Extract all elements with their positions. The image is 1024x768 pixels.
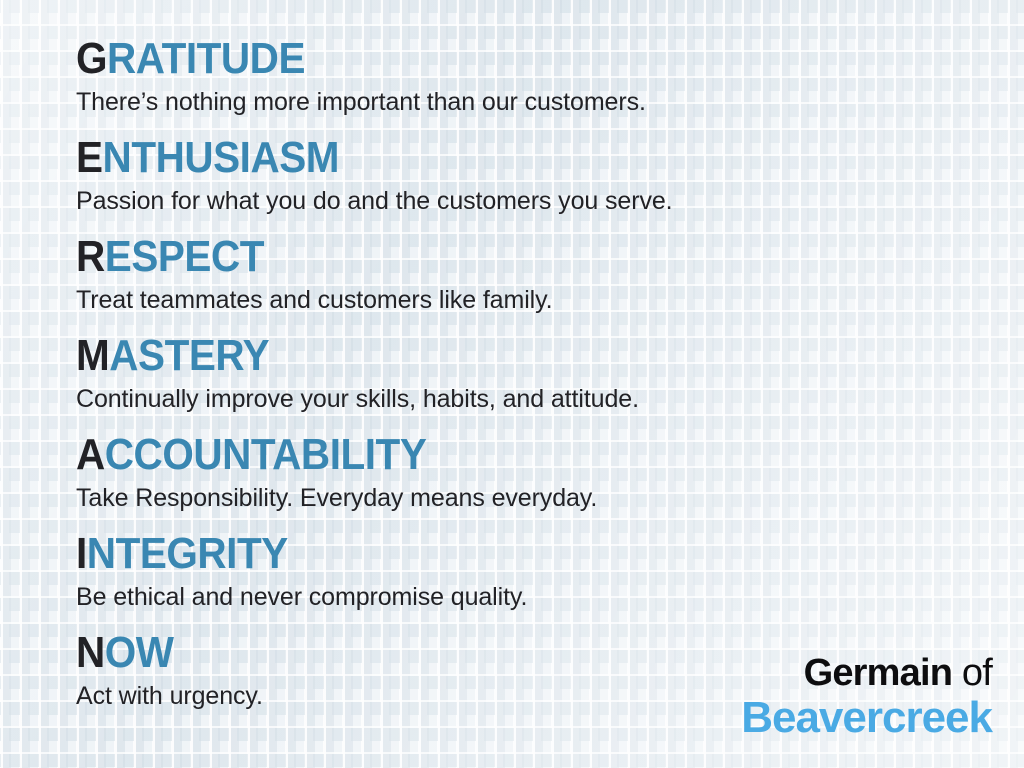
value-title-rest: NTEGRITY: [87, 529, 288, 578]
dealership-logo: Germain of Beavercreek: [741, 652, 992, 742]
value-title-rest: OW: [105, 628, 174, 677]
logo-brand-name: Germain: [804, 652, 953, 694]
logo-line-brand: Germain of: [741, 652, 992, 694]
value-description-gratitude: There’s nothing more important than our …: [76, 87, 976, 118]
value-initial: R: [76, 232, 105, 281]
value-block-respect: RESPECT Treat teammates and customers li…: [76, 232, 976, 316]
value-description-respect: Treat teammates and customers like famil…: [76, 285, 976, 316]
value-initial: N: [76, 628, 105, 677]
value-description-enthusiasm: Passion for what you do and the customer…: [76, 186, 976, 217]
core-values-list: GRATITUDE There’s nothing more important…: [76, 34, 976, 712]
value-initial: A: [76, 430, 105, 479]
value-title-respect: RESPECT: [76, 232, 904, 282]
value-title-enthusiasm: ENTHUSIASM: [76, 133, 904, 183]
value-block-integrity: INTEGRITY Be ethical and never compromis…: [76, 529, 976, 613]
value-title-rest: ASTERY: [109, 331, 269, 380]
value-block-accountability: ACCOUNTABILITY Take Responsibility. Ever…: [76, 430, 976, 514]
value-title-rest: RATITUDE: [107, 34, 305, 83]
value-block-enthusiasm: ENTHUSIASM Passion for what you do and t…: [76, 133, 976, 217]
values-poster: GRATITUDE There’s nothing more important…: [0, 0, 1024, 768]
value-initial: M: [76, 331, 109, 380]
value-title-accountability: ACCOUNTABILITY: [76, 430, 904, 480]
value-block-gratitude: GRATITUDE There’s nothing more important…: [76, 34, 976, 118]
logo-location: Beavercreek: [741, 694, 992, 742]
value-initial: G: [76, 34, 107, 83]
value-title-rest: NTHUSIASM: [103, 133, 339, 182]
value-description-mastery: Continually improve your skills, habits,…: [76, 384, 976, 415]
value-title-mastery: MASTERY: [76, 331, 904, 381]
value-title-rest: ESPECT: [105, 232, 264, 281]
value-title-rest: CCOUNTABILITY: [105, 430, 427, 479]
value-title-gratitude: GRATITUDE: [76, 34, 904, 84]
value-title-integrity: INTEGRITY: [76, 529, 904, 579]
value-block-mastery: MASTERY Continually improve your skills,…: [76, 331, 976, 415]
logo-connector: of: [952, 652, 992, 694]
value-description-accountability: Take Responsibility. Everyday means ever…: [76, 483, 976, 514]
value-description-integrity: Be ethical and never compromise quality.: [76, 582, 976, 613]
value-initial: E: [76, 133, 103, 182]
value-initial: I: [76, 529, 87, 578]
